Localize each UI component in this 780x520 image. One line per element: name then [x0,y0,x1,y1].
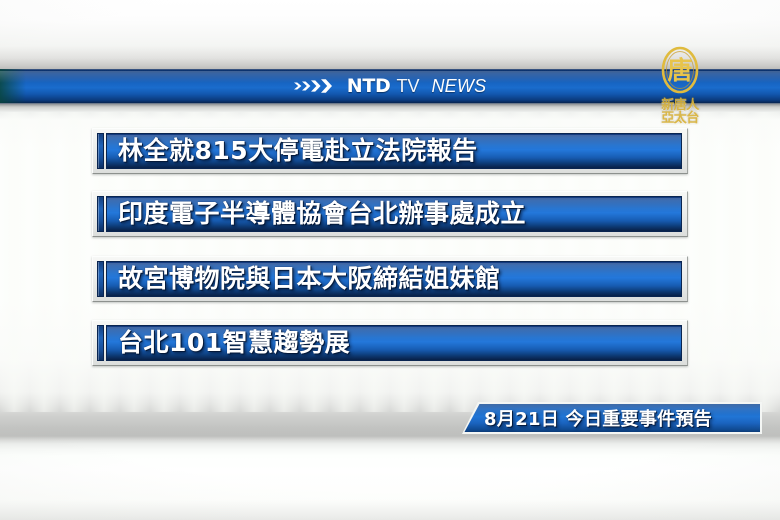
station-logo: 唐 新唐人 亞太台 [648,44,712,136]
headline-text: 印度電子半導體協會台北辦事處成立 [107,199,526,229]
logo-caption: 新唐人 亞太台 [661,99,699,125]
headline-bar-body: 印度電子半導體協會台北辦事處成立 [106,196,682,232]
svg-text:唐: 唐 [667,56,692,85]
headline-text: 故宮博物院與日本大阪締結姐妹館 [107,264,501,294]
headline-bar-left-cap [97,325,104,361]
ticker-text: 8月21日 今日重要事件預告 [484,402,712,434]
headline-bar-left-cap [97,261,104,297]
brand-ntd: NTD [347,75,391,97]
headline-bar-inner: 故宮博物院與日本大阪締結姐妹館 [97,261,682,297]
headline-bar[interactable]: 林全就815大停電赴立法院報告 [92,128,688,174]
headline-bar-left-cap [97,133,104,169]
brand-tv: TV [396,76,419,97]
broadcast-screen: NTD TV NEWS 唐 新唐人 亞太台 林全就815大停電赴立法院報告 [0,0,780,520]
headline-bar[interactable]: 故宮博物院與日本大阪締結姐妹館 [92,256,688,302]
headline-bar-inner: 林全就815大停電赴立法院報告 [97,133,682,169]
headline-bar-body: 台北101智慧趨勢展 [106,325,682,361]
headline-bar-body: 故宮博物院與日本大阪締結姐妹館 [106,261,682,297]
ntd-tang-emblem-icon: 唐 [657,44,703,98]
headline-bar-body: 林全就815大停電赴立法院報告 [106,133,682,169]
logo-caption-line2: 亞太台 [661,112,699,125]
ticker-banner: 8月21日 今日重要事件預告 [462,402,762,434]
headline-bar-inner: 台北101智慧趨勢展 [97,325,682,361]
brand-news: NEWS [431,76,486,97]
headline-bar[interactable]: 印度電子半導體協會台北辦事處成立 [92,191,688,237]
headline-text: 台北101智慧趨勢展 [107,328,350,358]
double-chevron-right-icon [294,78,338,94]
headline-bar-left-cap [97,196,104,232]
headline-bar-inner: 印度電子半導體協會台北辦事處成立 [97,196,682,232]
headline-text: 林全就815大停電赴立法院報告 [107,136,478,166]
headline-bar[interactable]: 台北101智慧趨勢展 [92,320,688,366]
